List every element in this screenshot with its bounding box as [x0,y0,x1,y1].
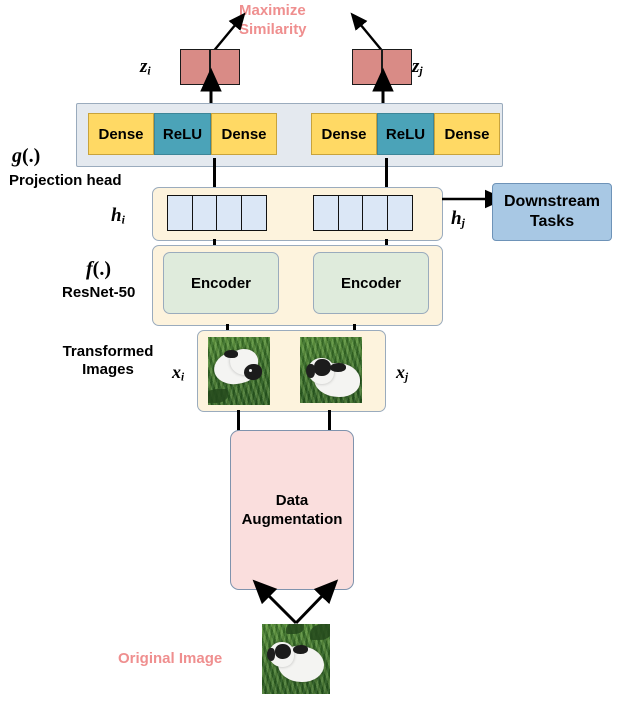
foliage [310,624,330,640]
dog-face-patch [275,644,291,659]
original-to-augmentation-arrows [0,0,622,701]
simclr-diagram: Maximize Similarity zi zj [0,0,622,701]
original-image [262,624,330,694]
original-image-label: Original Image [118,650,222,669]
dog-ear [267,648,275,661]
dog-back-patch [293,645,308,654]
